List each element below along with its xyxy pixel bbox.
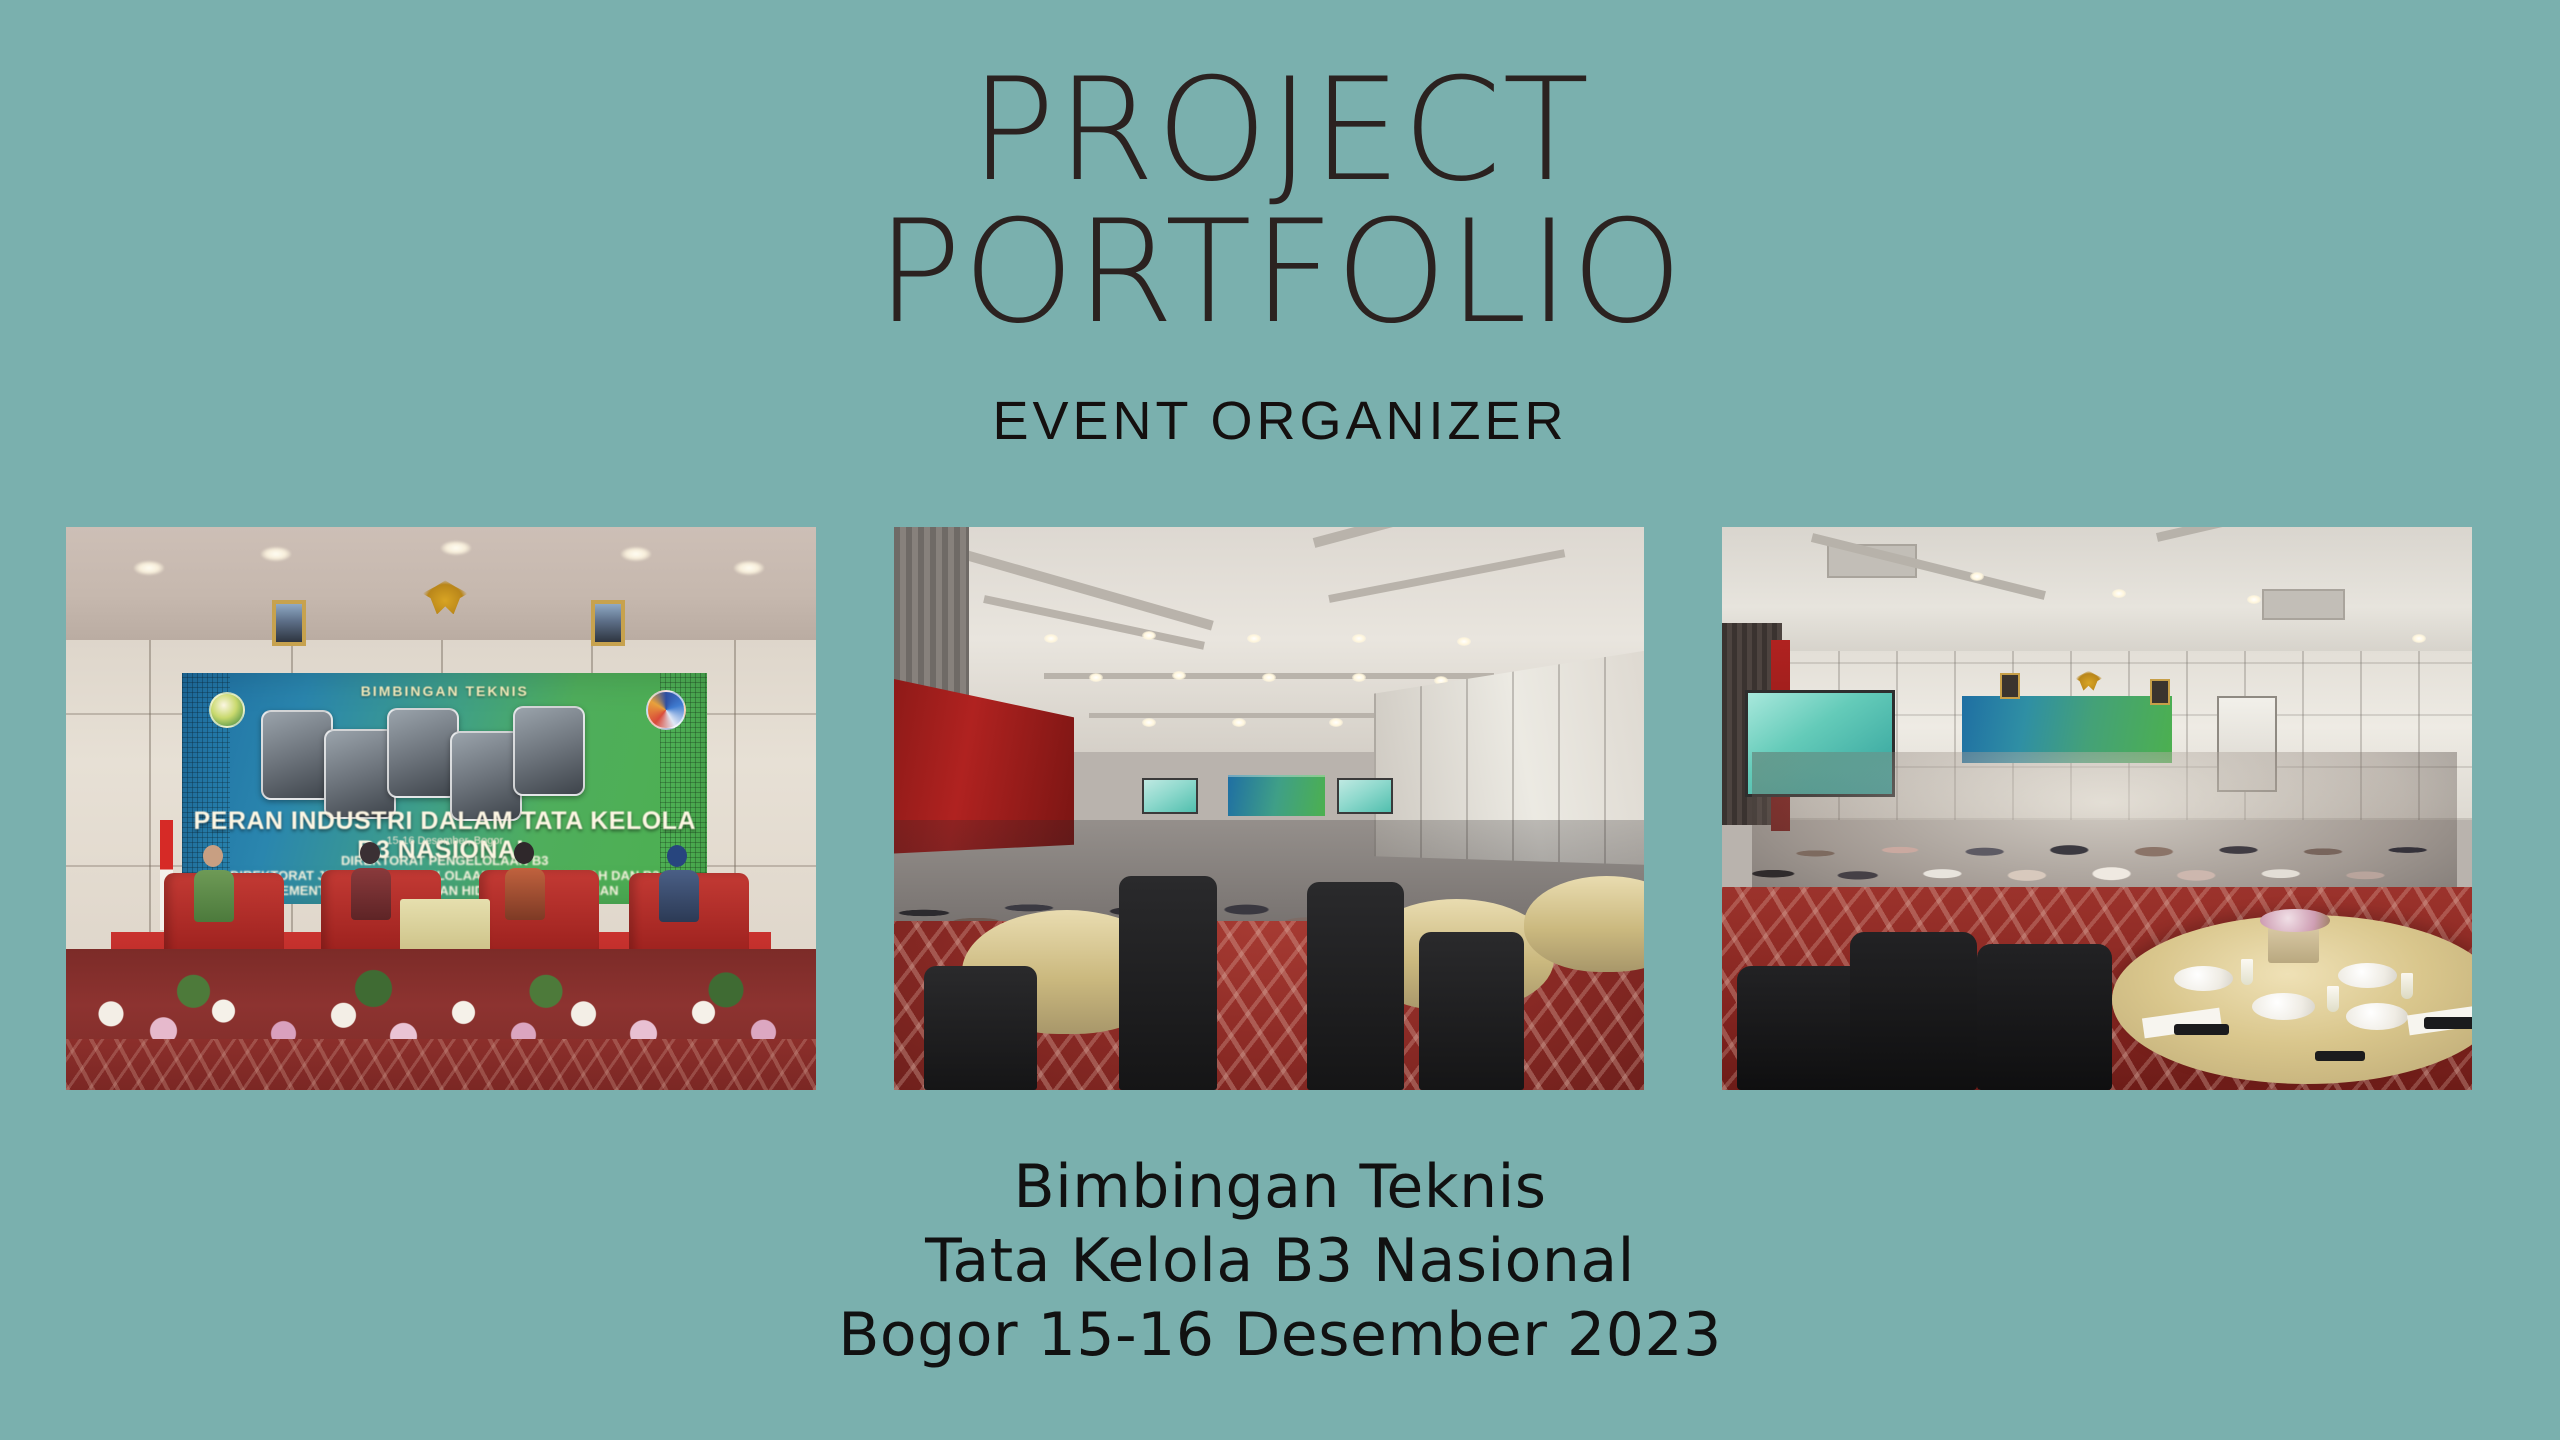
- chair: [1977, 944, 2112, 1090]
- panelist: [194, 870, 234, 922]
- ceiling-light-icon: [1970, 572, 1984, 581]
- title-line-1: PROJECT: [0, 60, 2560, 202]
- water-glass: [2241, 959, 2253, 985]
- ceiling-light-icon: [2112, 589, 2126, 598]
- ceiling-light-icon: [1044, 634, 1058, 643]
- ceiling-light-icon: [2412, 634, 2426, 643]
- projector-screen-right: [1337, 778, 1393, 815]
- chair: [1307, 882, 1405, 1090]
- projector-screen-left: [1142, 778, 1198, 815]
- plate: [2252, 993, 2314, 1020]
- water-glass: [2327, 986, 2339, 1012]
- panelist: [351, 868, 391, 920]
- ceiling-light-icon: [1172, 671, 1186, 680]
- panelist: [659, 870, 699, 922]
- chair: [924, 966, 1037, 1090]
- caption-line-2: Tata Kelola B3 Nasional: [0, 1224, 2560, 1298]
- air-conditioner-vent-icon: [2262, 589, 2345, 620]
- water-glass: [2401, 973, 2413, 999]
- banner-photo-thumb: [261, 710, 333, 800]
- photo-stage-panel: BIMBINGAN TEKNIS PERAN INDUSTRI DALAM TA…: [66, 527, 816, 1090]
- ceiling-light-icon: [1142, 631, 1156, 640]
- banner-photo-thumb: [513, 706, 585, 796]
- panelist-head: [514, 842, 534, 864]
- photo-group-portrait: [1722, 527, 2472, 1090]
- ceiling-light-icon: [134, 561, 164, 575]
- panelist-head: [203, 845, 223, 867]
- ceiling-light-icon: [621, 547, 651, 561]
- chair: [1419, 932, 1524, 1090]
- banner-title: BIMBINGAN TEKNIS: [182, 683, 707, 699]
- floor-carpet: [66, 1039, 816, 1090]
- ceiling-light-icon: [441, 541, 471, 555]
- panelist: [505, 868, 545, 920]
- plate: [2338, 963, 2397, 988]
- caption-line-1: Bimbingan Teknis: [0, 1150, 2560, 1224]
- president-portrait-icon: [272, 600, 306, 646]
- plate: [2174, 966, 2233, 991]
- ceiling-light-icon: [1457, 637, 1471, 646]
- ceiling-light-icon: [261, 547, 291, 561]
- subtitle: EVENT ORGANIZER: [0, 390, 2560, 452]
- president-portrait-icon: [2000, 673, 2020, 699]
- event-banner: BIMBINGAN TEKNIS PERAN INDUSTRI DALAM TA…: [182, 673, 707, 904]
- banner-photo-thumb: [387, 708, 459, 798]
- photo-gallery: BIMBINGAN TEKNIS PERAN INDUSTRI DALAM TA…: [66, 527, 2472, 1090]
- vice-president-portrait-icon: [2150, 679, 2170, 705]
- slide-canvas: PROJECT PORTFOLIO EVENT ORGANIZER: [0, 0, 2560, 1440]
- banner-date: 15-16 Desember, Bogor: [182, 835, 707, 847]
- stage-banner: [1228, 775, 1326, 816]
- vice-president-portrait-icon: [591, 600, 625, 646]
- page-title: PROJECT PORTFOLIO: [0, 60, 2560, 344]
- ceiling-light-icon: [734, 561, 764, 575]
- chair: [1850, 932, 1978, 1090]
- chair: [1119, 876, 1217, 1090]
- centerpiece-flowers: [2260, 909, 2330, 933]
- smartphone: [2174, 1024, 2229, 1036]
- title-line-2: PORTFOLIO: [0, 202, 2560, 344]
- ceiling-light-icon: [1352, 634, 1366, 643]
- smartphone: [2424, 1017, 2472, 1029]
- event-caption: Bimbingan Teknis Tata Kelola B3 Nasional…: [0, 1150, 2560, 1372]
- photo-ballroom-audience: [894, 527, 1644, 1090]
- plate: [2346, 1003, 2408, 1030]
- caption-line-3: Bogor 15-16 Desember 2023: [0, 1298, 2560, 1372]
- smartphone: [2315, 1051, 2366, 1061]
- ceiling-light-icon: [1247, 634, 1261, 643]
- center-table: [400, 899, 490, 957]
- banner-photo-thumb: [324, 729, 396, 819]
- ceiling-light-icon: [2247, 595, 2261, 604]
